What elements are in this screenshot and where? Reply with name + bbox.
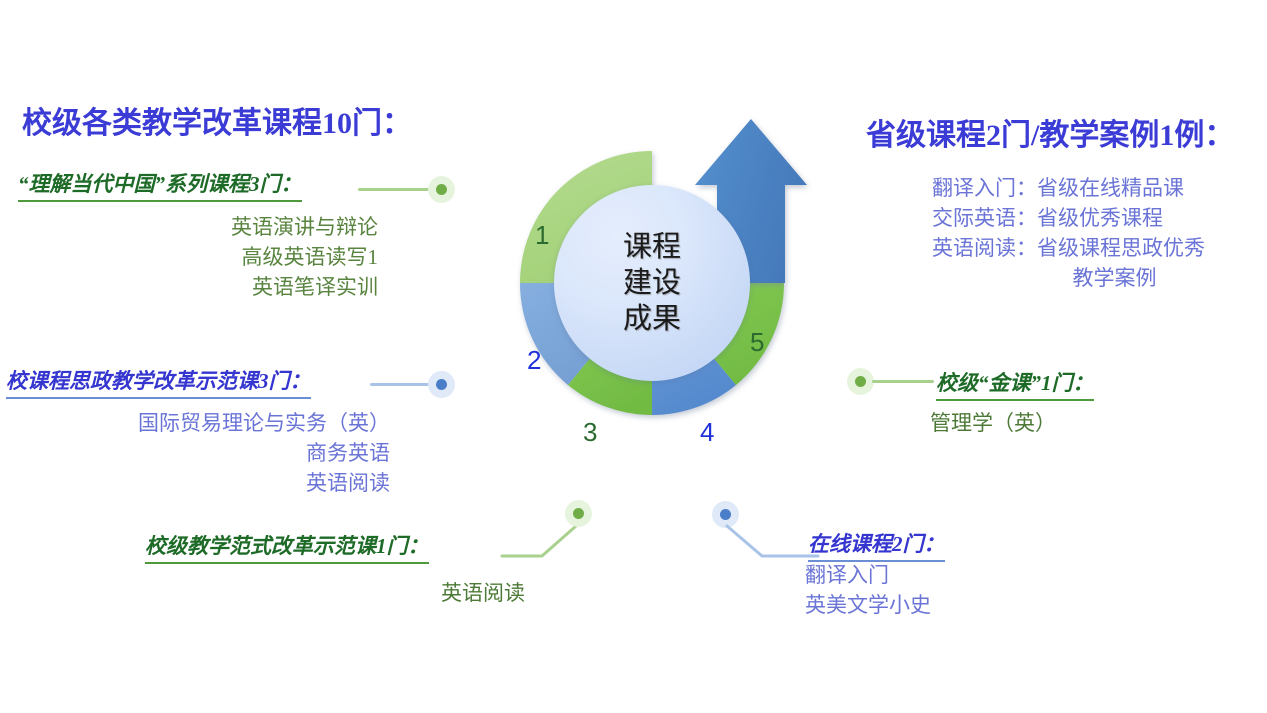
- connector-dot-right-1: [847, 368, 874, 395]
- right-group-1-heading: 校级“金课”1门：: [936, 367, 1094, 401]
- connector-dot-left-1: [428, 176, 455, 203]
- left-group-2-item-0: 国际贸易理论与实务（英）: [0, 408, 390, 438]
- left-group-1-item-2: 英语笔译实训: [0, 272, 378, 302]
- connector-line-left-3: [500, 500, 610, 562]
- left-group-1-item-0: 英语演讲与辩论: [0, 212, 378, 242]
- left-group-2-item-2: 英语阅读: [0, 468, 390, 498]
- right-group-2-heading-text: 在线课程2门：: [808, 528, 945, 562]
- right-group-2-heading: 在线课程2门：: [808, 528, 945, 562]
- connector-line-left-2: [370, 383, 430, 386]
- left-group-1-item-1: 高级英语读写1: [0, 242, 378, 272]
- right-group-1-heading-text: 校级“金课”1门：: [936, 367, 1094, 401]
- right-main-item-2: 英语阅读：省级课程思政优秀: [932, 233, 1257, 263]
- center-label-line-0: 课程: [623, 229, 681, 265]
- slide-canvas: 校级各类教学改革课程10门： “理解当代中国”系列课程3门： 英语演讲与辩论 高…: [0, 0, 1267, 713]
- left-group-1-heading: “理解当代中国”系列课程3门：: [18, 168, 302, 202]
- right-main-item-3: 教学案例: [932, 263, 1257, 293]
- left-group-2-heading-text: 校课程思政教学改革示范课3门：: [6, 365, 311, 399]
- left-group-3-items: 英语阅读: [0, 578, 525, 608]
- course-results-diagram: 1 2 3 4 5 课程 建设 成果: [455, 105, 855, 505]
- left-group-2-heading: 校课程思政教学改革示范课3门：: [6, 365, 311, 399]
- center-circle: 课程 建设 成果: [554, 185, 750, 381]
- right-group-2-item-0: 翻译入门: [805, 560, 931, 590]
- right-main-items: 翻译入门：省级在线精品课 交际英语：省级优秀课程 英语阅读：省级课程思政优秀 教…: [862, 173, 1257, 293]
- left-main-title-text: 校级各类教学改革课程10门：: [22, 98, 412, 142]
- center-label-line-2: 成果: [623, 301, 681, 337]
- right-group-1-items: 管理学（英）: [930, 408, 1056, 438]
- right-group-1-item-0: 管理学（英）: [930, 408, 1056, 438]
- left-group-1-heading-text: “理解当代中国”系列课程3门：: [18, 168, 302, 202]
- right-main-title: 省级课程2门/教学案例1例：: [866, 110, 1234, 154]
- connector-dot-left-2: [428, 371, 455, 398]
- right-group-2-item-1: 英美文学小史: [805, 590, 931, 620]
- left-group-3-item-0: 英语阅读: [0, 578, 525, 608]
- right-main-item-0: 翻译入门：省级在线精品课: [932, 173, 1257, 203]
- center-label-line-1: 建设: [623, 265, 681, 301]
- left-group-2-items: 国际贸易理论与实务（英） 商务英语 英语阅读: [0, 408, 390, 498]
- left-group-1-items: 英语演讲与辩论 高级英语读写1 英语笔译实训: [0, 212, 378, 302]
- left-group-3-heading: 校级教学范式改革示范课1门：: [145, 530, 429, 564]
- connector-line-right-1: [872, 380, 934, 383]
- connector-line-left-1: [358, 188, 430, 191]
- right-group-2-items: 翻译入门 英美文学小史: [805, 560, 931, 620]
- left-group-2-item-1: 商务英语: [0, 438, 390, 468]
- left-group-3-heading-text: 校级教学范式改革示范课1门：: [145, 530, 429, 564]
- right-main-item-1: 交际英语：省级优秀课程: [932, 203, 1257, 233]
- left-main-title: 校级各类教学改革课程10门：: [22, 98, 412, 142]
- right-main-title-text: 省级课程2门/教学案例1例：: [866, 110, 1234, 154]
- center-label: 课程 建设 成果: [623, 229, 681, 338]
